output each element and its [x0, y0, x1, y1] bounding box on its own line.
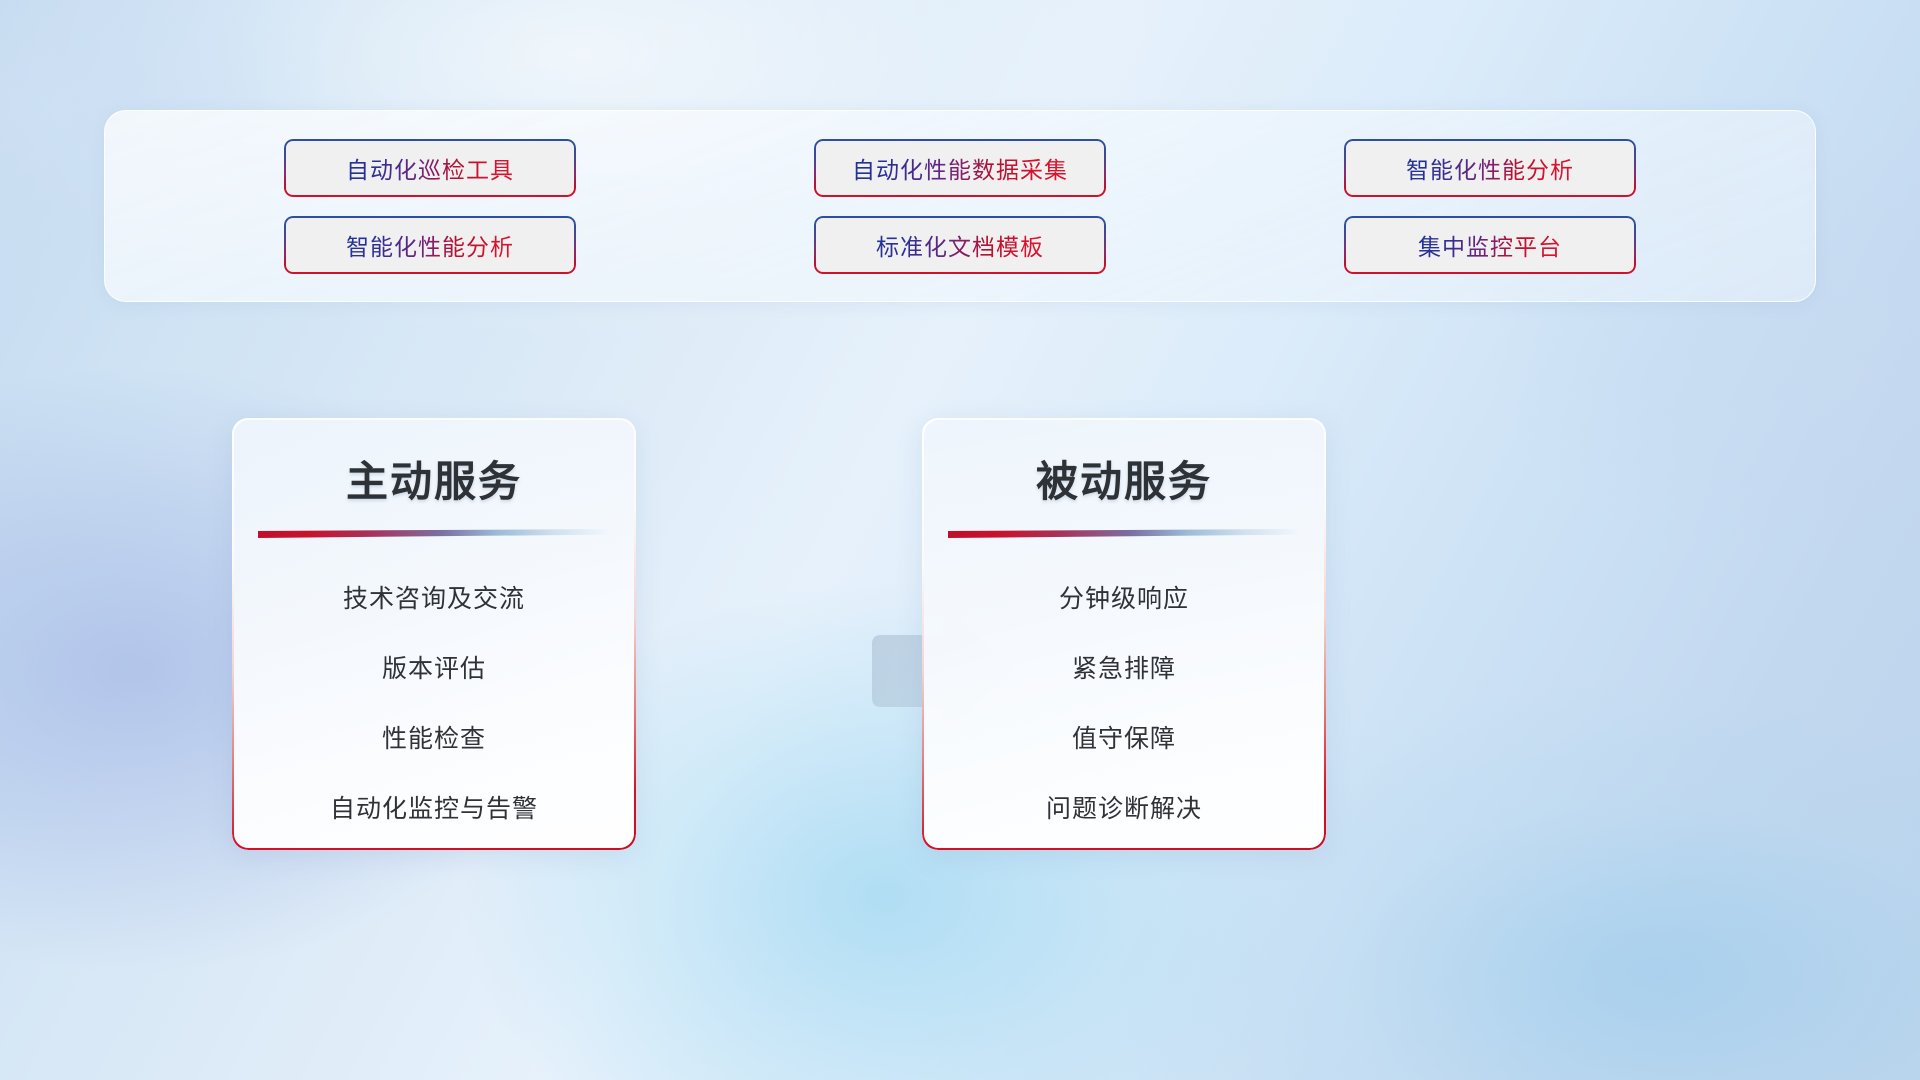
passive-service-divider	[948, 529, 1300, 538]
list-item: 健康巡检	[232, 842, 636, 850]
capability-chip[interactable]: 智能化性能分析	[1344, 139, 1636, 197]
capability-chip-label: 智能化性能分析	[1406, 151, 1574, 185]
list-item: 性能检查	[232, 702, 636, 772]
passive-service-title: 被动服务	[922, 418, 1326, 509]
list-item: 分钟级响应	[922, 562, 1326, 632]
capability-chip[interactable]: 标准化文档模板	[814, 216, 1106, 274]
list-item: 自动化监控与告警	[232, 772, 636, 842]
slide-canvas: 自动化巡检工具 自动化性能数据采集 智能化性能分析 智能化性能分析 标准化文档模…	[0, 0, 1920, 1080]
list-item: 紧急排障	[922, 632, 1326, 702]
list-item: 版本评估	[232, 632, 636, 702]
capability-chip-label: 智能化性能分析	[346, 228, 514, 262]
active-service-title: 主动服务	[232, 418, 636, 509]
active-service-divider	[258, 529, 610, 538]
capability-chip-label: 集中监控平台	[1418, 228, 1562, 262]
active-service-list: 技术咨询及交流 版本评估 性能检查 自动化监控与告警 健康巡检	[232, 538, 636, 850]
capability-chip[interactable]: 自动化性能数据采集	[814, 139, 1106, 197]
passive-service-card: 被动服务 分钟级响应 紧急排障 值守保障 问题诊断解决 SLA式服务	[922, 418, 1326, 850]
passive-service-list: 分钟级响应 紧急排障 值守保障 问题诊断解决 SLA式服务	[922, 538, 1326, 850]
capability-chip-label: 自动化性能数据采集	[852, 151, 1068, 185]
capability-chip[interactable]: 智能化性能分析	[284, 216, 576, 274]
list-item: SLA式服务	[922, 842, 1326, 850]
active-service-card: 主动服务 技术咨询及交流 版本评估 性能检查 自动化监控与告警 健康巡检	[232, 418, 636, 850]
capability-chip[interactable]: 集中监控平台	[1344, 216, 1636, 274]
capability-chip-label: 标准化文档模板	[876, 228, 1044, 262]
list-item: 问题诊断解决	[922, 772, 1326, 842]
capability-chip[interactable]: 自动化巡检工具	[284, 139, 576, 197]
list-item: 值守保障	[922, 702, 1326, 772]
capability-chip-grid: 自动化巡检工具 自动化性能数据采集 智能化性能分析 智能化性能分析 标准化文档模…	[105, 111, 1815, 301]
list-item: 技术咨询及交流	[232, 562, 636, 632]
capability-panel: 自动化巡检工具 自动化性能数据采集 智能化性能分析 智能化性能分析 标准化文档模…	[104, 110, 1816, 302]
capability-chip-label: 自动化巡检工具	[346, 151, 514, 185]
